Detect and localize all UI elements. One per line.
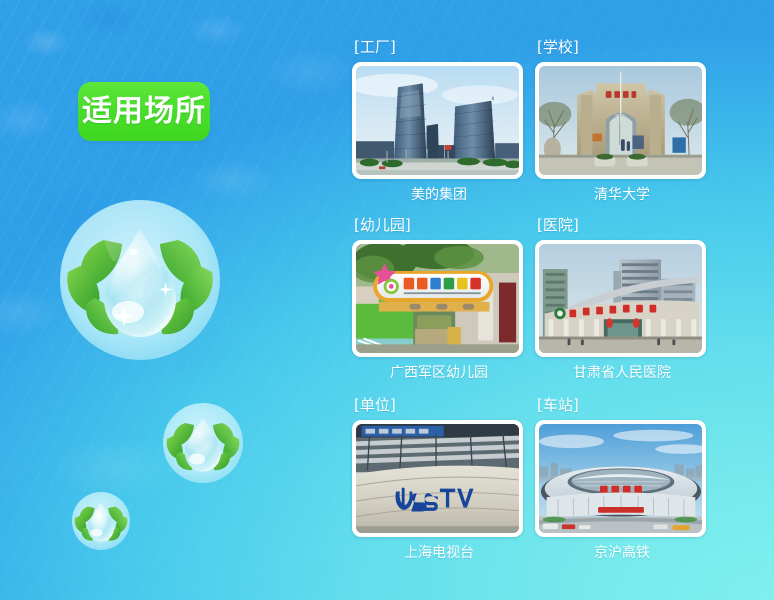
- cell-caption-hospital: 甘肃省人民医院: [535, 366, 709, 380]
- cell-caption-station: 京沪高铁: [535, 546, 709, 560]
- grid-cell-kindergarten[interactable]: [幼儿园]: [352, 218, 526, 380]
- photo-shanghai-television-stv-building: [356, 424, 519, 533]
- cell-caption-unit: 上海电视台: [352, 546, 526, 560]
- photo-guangxi-military-kindergarten: [356, 244, 519, 353]
- photo-frame-unit: [352, 420, 523, 537]
- cell-label-kindergarten: [幼儿园]: [354, 218, 526, 233]
- grid-cell-unit[interactable]: [单位]: [352, 398, 526, 560]
- water-drop-large: [60, 200, 220, 360]
- cell-caption-factory: 美的集团: [352, 188, 526, 202]
- photo-gansu-provincial-peoples-hospital: [539, 244, 702, 353]
- grid-cell-school[interactable]: [学校]: [535, 40, 709, 202]
- page-title-badge: 适用场所: [78, 82, 210, 141]
- photo-beijing-south-railway-station: [539, 424, 702, 533]
- cell-label-factory: [工厂]: [354, 40, 526, 55]
- water-drop-small-art: [72, 492, 130, 550]
- cell-label-hospital: [医院]: [537, 218, 709, 233]
- poster-canvas: 适用场所: [0, 0, 774, 600]
- water-drop-large-art: [60, 200, 220, 360]
- cell-caption-school: 清华大学: [535, 188, 709, 202]
- photo-frame-kindergarten: [352, 240, 523, 357]
- water-drop-medium-art: [163, 403, 243, 483]
- photo-frame-factory: [352, 62, 523, 179]
- water-drop-small: [72, 492, 130, 550]
- photo-midea-group-towers: [356, 66, 519, 175]
- photo-frame-hospital: [535, 240, 706, 357]
- cell-label-station: [车站]: [537, 398, 709, 413]
- grid-cell-station[interactable]: [车站]: [535, 398, 709, 560]
- photo-tsinghua-university-gate: [539, 66, 702, 175]
- cell-label-school: [学校]: [537, 40, 709, 55]
- venue-photo-grid: [工厂]: [352, 40, 724, 565]
- water-drop-medium: [163, 403, 243, 483]
- grid-cell-factory[interactable]: [工厂]: [352, 40, 526, 202]
- cell-caption-kindergarten: 广西军区幼儿园: [352, 366, 526, 380]
- photo-frame-school: [535, 62, 706, 179]
- grid-cell-hospital[interactable]: [医院]: [535, 218, 709, 380]
- cell-label-unit: [单位]: [354, 398, 526, 413]
- photo-frame-station: [535, 420, 706, 537]
- page-title: 适用场所: [82, 97, 206, 127]
